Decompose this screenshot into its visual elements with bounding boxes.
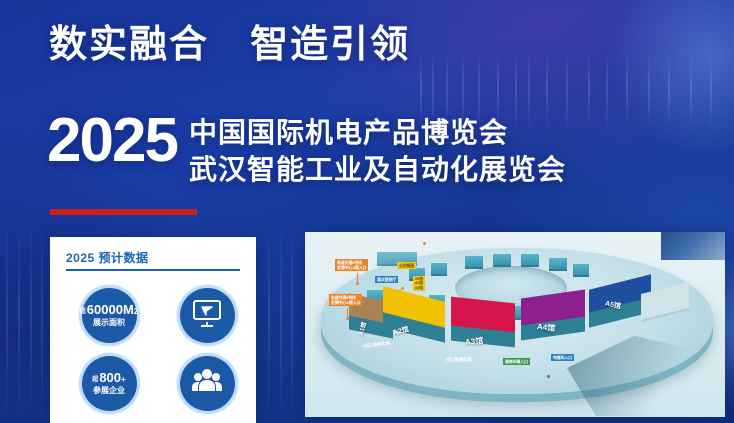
people-group-icon (191, 366, 223, 401)
stat-badge-area: 超 60000M 2 展示面积 (82, 288, 137, 343)
stat-value: 60000M (87, 303, 134, 316)
callout-setup-vehicle-entrance[interactable]: 布展车入口 (551, 354, 574, 361)
poster-title-block: 2025 中国国际机电产品博览会 武汉智能工业及自动化展览会 (47, 112, 566, 189)
stat-label: 展示面积 (93, 319, 125, 327)
hall-label: A2馆 (392, 324, 410, 338)
map-photo-corner (661, 232, 725, 260)
callout-metro-entrance-2[interactable]: 轨道交通8号线宏博中心A馆入口 (329, 294, 362, 306)
icon-badge-monitor (180, 288, 235, 343)
poster-slogan: 数实融合 智造引领 (49, 26, 410, 64)
venue-map[interactable]: A1馆 A2馆 A3馆 A4馆 A5馆 (305, 232, 725, 417)
slogan-part-1: 数实融合 (49, 24, 209, 66)
stat-badge-enterprises: 超 800 + 参展企业 (82, 356, 137, 411)
parking-label: A区1层停车场 (445, 357, 472, 363)
hall-label: A3馆 (465, 335, 484, 348)
stat-prefix: 超 (92, 377, 98, 383)
event-year: 2025 (47, 112, 177, 169)
event-title-line-1: 中国国际机电产品博览会 (189, 115, 566, 152)
badge-grid: 超 60000M 2 展示面积 (60, 281, 256, 417)
venue-map-canvas: A1馆 A2馆 A3馆 A4馆 A5馆 (305, 232, 725, 417)
hall-label: A4馆 (536, 321, 555, 334)
callout-visitor-lobby[interactable]: 观众登录厅 (375, 276, 398, 283)
callout-bus-hub[interactable]: 公交枢纽 (397, 262, 416, 269)
badge-cell: 超 800 + 参展企业 (60, 349, 158, 417)
expected-data-card: 2025 预计数据 超 60000M 2 展示面积 (50, 237, 256, 423)
stat-prefix: 超 (80, 309, 86, 315)
stat-unit-sup: 2 (134, 308, 138, 316)
event-title-line-2: 武汉智能工业及自动化展览会 (189, 152, 566, 189)
stat-label: 参展企业 (93, 387, 125, 395)
card-title: 2025 预计数据 (66, 249, 149, 266)
stat-value: 800 (99, 371, 121, 384)
badge-cell: 超 60000M 2 展示面积 (60, 281, 158, 349)
hall-a4[interactable]: A4馆 (521, 294, 591, 344)
slogan-part-2: 智造引领 (250, 24, 410, 66)
monitor-display-icon (191, 298, 223, 333)
stat-unit-sup: + (121, 376, 126, 384)
callout-metro-entrance-1[interactable]: 轨道交通8号线宏博中心A馆入口 (335, 259, 368, 271)
exhibition-poster: 数实融合 智造引领 2025 中国国际机电产品博览会 武汉智能工业及自动化展览会… (0, 0, 734, 423)
icon-badge-people (180, 356, 235, 411)
glow-accent-top (600, 0, 734, 150)
event-title-lines: 中国国际机电产品博览会 武汉智能工业及自动化展览会 (189, 112, 566, 189)
badge-cell (158, 281, 256, 349)
hall-a3[interactable]: A3馆 (451, 300, 521, 350)
badge-cell (158, 349, 256, 417)
card-title-underline (66, 269, 240, 271)
hall-a2[interactable]: A2馆 (383, 294, 449, 342)
callout-hall-list[interactable]: A1馆A2馆A3馆 (413, 276, 425, 291)
callout-exhibitor-vehicle-entrance[interactable]: 展商车辆入口 (503, 358, 530, 365)
red-accent-bar (50, 209, 197, 215)
